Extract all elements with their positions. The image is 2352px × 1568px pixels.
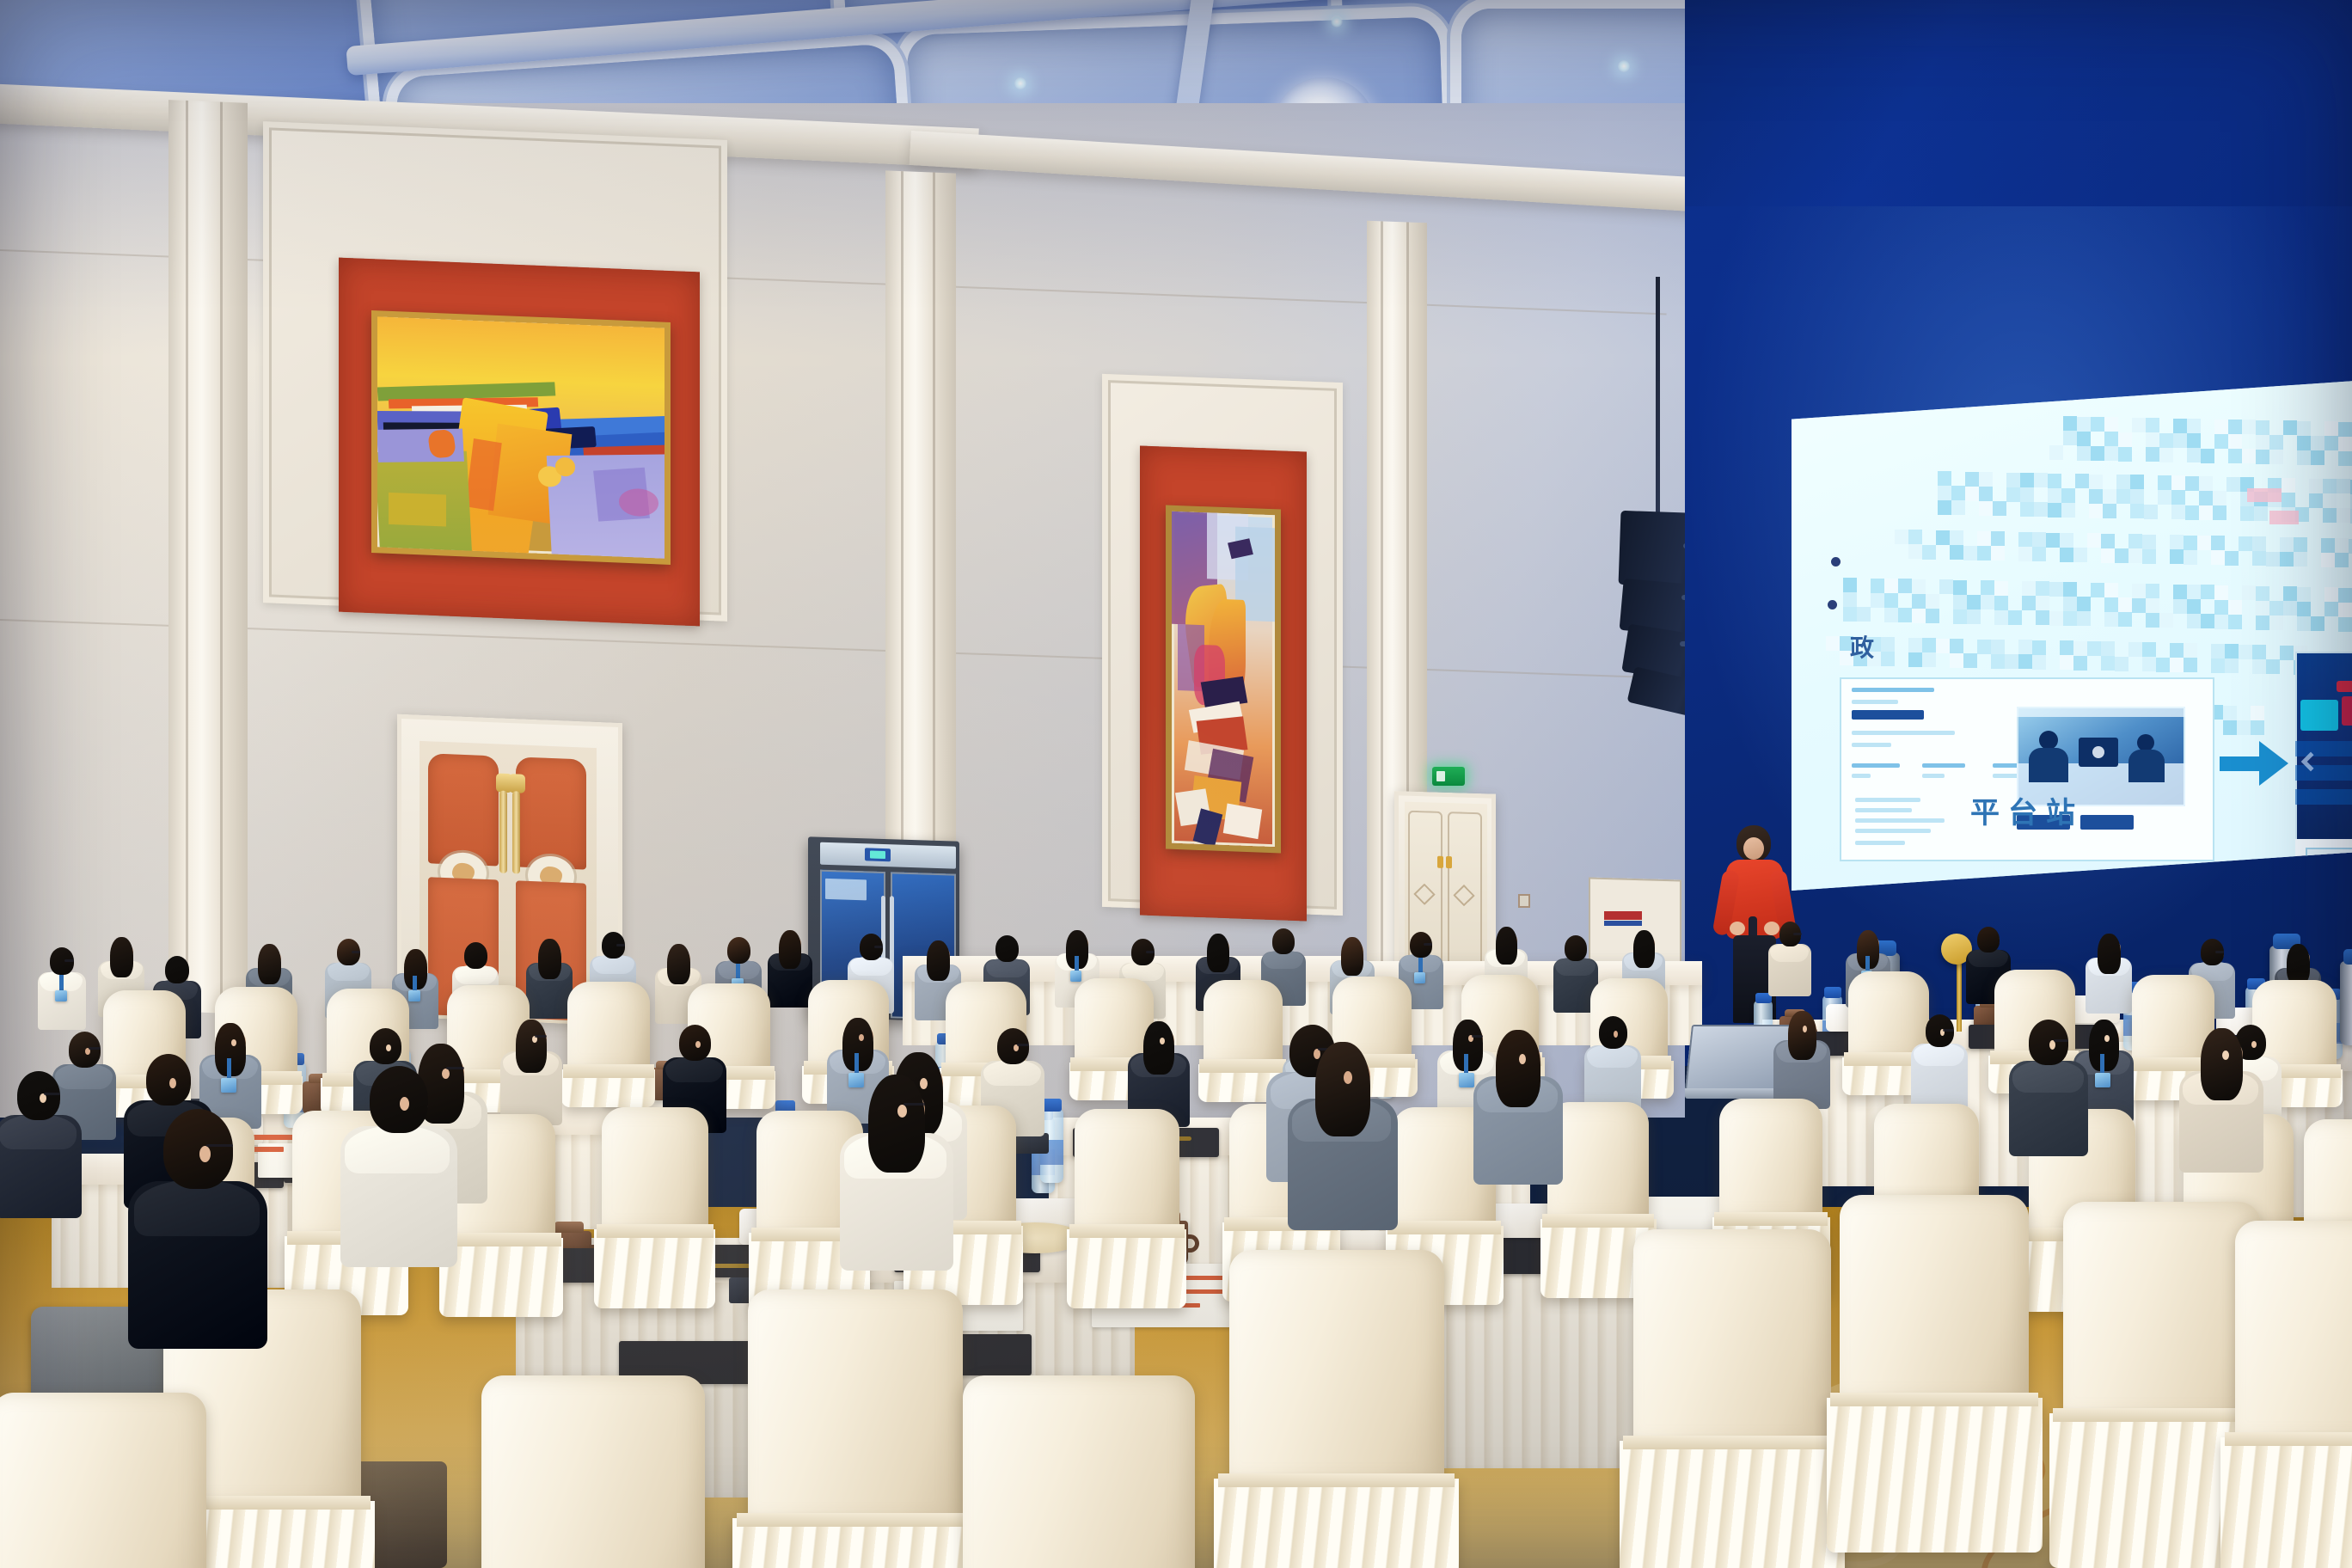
mosaic-pixel <box>2032 640 2046 655</box>
mosaic-pixel <box>2311 450 2324 465</box>
mosaic-pixel <box>2046 655 2060 670</box>
mosaic-pixel <box>2104 583 2118 597</box>
mosaic-pixel <box>2128 657 2142 671</box>
mosaic-pixel <box>2018 654 2032 669</box>
mosaic-pixel <box>2063 416 2077 431</box>
hair <box>163 1109 233 1189</box>
mosaic-pixel <box>2171 475 2185 490</box>
mosaic-pixel <box>2075 474 2089 488</box>
mosaic-pixel <box>2187 419 2201 433</box>
hair <box>370 1066 428 1133</box>
mosaic-pixel <box>2283 435 2297 450</box>
mosaic-pixel <box>2020 473 2034 487</box>
mosaic-pixel <box>1950 530 1963 545</box>
slide-caption: 平台站 <box>1970 789 2084 831</box>
mosaic-pixel <box>2214 434 2228 449</box>
mosaic-pixel <box>2311 421 2324 436</box>
panel-sign-red <box>1604 911 1642 920</box>
mosaic-pixel <box>2226 477 2240 492</box>
presenter-face <box>1743 837 1764 860</box>
mosaic-pixel <box>2022 610 2036 625</box>
hair <box>1788 1011 1816 1060</box>
mosaic-pixel <box>1936 545 1950 560</box>
mosaic-pixel <box>2005 547 2018 561</box>
mosaic-pixel <box>2338 451 2352 466</box>
mosaic-pixel <box>2184 550 2197 565</box>
ear <box>859 1034 864 1041</box>
banquet-chair[interactable] <box>1204 980 1283 1068</box>
mosaic-pixel <box>1908 652 1922 667</box>
hair <box>17 1071 60 1120</box>
mosaic-pixel <box>2077 417 2091 432</box>
mosaic-pixel <box>1950 545 1963 560</box>
mosaic-pixel <box>2063 582 2077 597</box>
mosaic-pixel <box>2171 490 2185 505</box>
shoulder <box>1770 944 1809 962</box>
mosaic-pixel <box>2338 422 2352 437</box>
mosaic-pixel <box>1951 471 1965 486</box>
mosaic-pixel <box>2159 613 2173 628</box>
mosaic-pixel <box>2309 508 2323 523</box>
panel-sign-blue <box>1604 921 1642 926</box>
mosaic-pixel <box>2223 720 2237 735</box>
mosaic-pixel <box>2242 585 2256 600</box>
mosaic-pixel <box>1991 640 2005 654</box>
mosaic-pixel <box>2240 506 2254 521</box>
mosaic-pixel <box>2269 586 2283 601</box>
hair <box>2029 1020 2068 1065</box>
chair-sash <box>1714 1212 1828 1226</box>
mosaic-pixel <box>2280 660 2294 675</box>
hair <box>2287 944 2310 984</box>
mosaic-pixel <box>2324 421 2338 436</box>
mosaic-pixel <box>2118 432 2132 447</box>
mosaic-pixel <box>2144 490 2158 505</box>
mosaic-pixel <box>2214 600 2228 615</box>
mosaic-pixel <box>1857 592 1871 607</box>
mosaic-pixel <box>2130 504 2144 518</box>
mosaic-pixel <box>1936 530 1950 545</box>
mosaic-pixel <box>2256 435 2269 450</box>
mosaic-pixel <box>2324 602 2338 616</box>
mosaic-pixel <box>1965 487 1979 501</box>
hair <box>1496 1030 1540 1107</box>
banquet-chair[interactable] <box>1229 1250 1444 1482</box>
mosaic-pixel <box>1936 653 1950 668</box>
mosaic-pixel <box>2063 611 2077 626</box>
lanyard <box>2100 1054 2104 1075</box>
mosaic-pixel <box>2307 553 2321 567</box>
chair-sash <box>442 1233 561 1246</box>
wall-pilaster <box>168 100 248 1014</box>
chair-sash <box>1199 1059 1286 1073</box>
mosaic-pixel <box>2073 656 2087 671</box>
hair <box>1315 1042 1370 1136</box>
mosaic-pixel <box>1922 638 1936 652</box>
mosaic-pixel <box>2173 433 2187 448</box>
mosaic-pixel <box>2146 613 2159 628</box>
eyeglasses <box>874 946 883 948</box>
mosaic-pixel <box>2060 548 2073 562</box>
mosaic-pixel <box>2020 487 2034 502</box>
mosaic-pixel <box>2239 551 2252 566</box>
mosaic-pixel <box>2185 476 2199 491</box>
banquet-chair[interactable] <box>1075 1109 1179 1233</box>
mosaic-pixel <box>2159 433 2173 448</box>
mosaic-pixel <box>1922 545 1936 560</box>
mosaic-pixel <box>2252 536 2266 551</box>
mosaic-pixel <box>2266 552 2280 567</box>
mosaic-pixel <box>2228 434 2242 449</box>
eyeglasses <box>1793 933 1802 935</box>
chair-sash <box>563 1064 654 1078</box>
mosaic-pixel <box>2173 419 2187 433</box>
mosaic-pixel <box>2225 551 2239 566</box>
banquet-chair[interactable] <box>602 1107 708 1233</box>
mosaic-pixel <box>2046 533 2060 548</box>
mosaic-pixel <box>2214 420 2228 434</box>
mosaic-pixel <box>2199 476 2213 491</box>
mosaic-pixel <box>2184 536 2197 550</box>
mosaic-pixel <box>2311 587 2324 602</box>
mosaic-pixel <box>2211 658 2225 673</box>
mosaic-pixel <box>2036 581 2049 596</box>
banquet-chair[interactable] <box>2235 1221 2352 1441</box>
mosaic-pixel <box>2156 643 2170 658</box>
mosaic-pixel <box>1843 607 1857 622</box>
hair <box>868 1075 925 1173</box>
mosaic-pixel <box>2242 420 2256 434</box>
mosaic-pixel <box>2309 493 2323 508</box>
mosaic-pixel <box>1965 501 1979 516</box>
mosaic-pixel <box>1938 471 1951 486</box>
banquet-chair[interactable] <box>481 1375 705 1568</box>
banquet-chair[interactable] <box>748 1289 963 1522</box>
mosaic-pixel <box>2295 478 2309 493</box>
mosaic-pixel <box>2228 585 2242 600</box>
mosaic-pixel <box>1871 608 1884 622</box>
ear <box>897 1105 907 1118</box>
mosaic-pixel <box>2034 502 2048 517</box>
mosaic-pixel <box>2170 658 2184 672</box>
banquet-chair[interactable] <box>1840 1195 2029 1401</box>
mosaic-pixel <box>2073 641 2087 656</box>
banquet-chair[interactable] <box>0 1393 206 1568</box>
mosaic-pixel <box>2324 450 2338 465</box>
teapot-lid <box>554 1222 583 1234</box>
mosaic-pixel <box>2283 616 2297 630</box>
chair-sash <box>2225 1432 2352 1446</box>
mosaic-pixel <box>1951 486 1965 500</box>
mosaic-pixel <box>1898 579 1912 593</box>
mosaic-pixel <box>2294 552 2307 567</box>
mosaic-pixel <box>1951 500 1965 515</box>
mosaic-pixel <box>2213 476 2226 491</box>
mosaic-pixel <box>2297 421 2311 436</box>
chair-skirt <box>1067 1229 1186 1308</box>
mosaic-pixel <box>1950 653 1963 668</box>
mosaic-pixel <box>2128 548 2142 563</box>
mosaic-pixel <box>2213 491 2226 505</box>
mosaic-pixel <box>2091 597 2104 612</box>
thermos-flask <box>2340 961 2352 1045</box>
chair-sash <box>1542 1214 1654 1228</box>
mosaic-pixel <box>2211 644 2225 658</box>
mosaic-pixel <box>2237 706 2251 720</box>
ear <box>199 1146 211 1162</box>
mosaic-pixel <box>2146 598 2159 613</box>
slide-subhead: 政 <box>1850 629 1877 664</box>
mosaic-pixel <box>1963 639 1977 653</box>
mosaic-pixel <box>2282 493 2295 507</box>
mosaic-pixel <box>1843 578 1857 592</box>
mosaic-pixel <box>1939 609 1953 623</box>
mosaic-pixel <box>2201 614 2214 628</box>
mosaic-pixel <box>2187 433 2201 448</box>
banquet-chair[interactable] <box>567 982 650 1073</box>
mosaic-pixel <box>1881 637 1895 652</box>
mosaic-pixel <box>2089 489 2103 504</box>
mosaic-pixel <box>2089 504 2103 518</box>
mosaic-pixel <box>2297 436 2311 450</box>
hair <box>1977 927 2000 952</box>
chair-sash <box>1830 1393 2038 1406</box>
mosaic-pixel <box>2032 532 2046 547</box>
mosaic-pixel <box>2075 503 2089 518</box>
mosaic-pixel <box>2130 475 2144 489</box>
banquet-chair[interactable] <box>1719 1099 1822 1221</box>
mosaic-pixel <box>1895 544 1908 559</box>
mosaic-pixel <box>2132 584 2146 598</box>
projection-screen: 政 <box>1792 378 2352 891</box>
mosaic-pixel <box>2146 447 2159 462</box>
mosaic-pixel <box>2239 645 2252 659</box>
mosaic-pixel <box>2226 492 2240 506</box>
mosaic-pixel <box>2005 532 2018 547</box>
mosaic-pixel <box>2256 586 2269 601</box>
mosaic-pixel <box>2280 537 2294 552</box>
mosaic-pixel <box>2115 548 2128 563</box>
mosaic-pixel <box>2034 473 2048 487</box>
mosaic-pixel <box>1912 609 1926 623</box>
mosaic-pixel <box>2256 450 2269 464</box>
chair-skirt <box>1620 1441 1845 1568</box>
mosaic-pixel <box>1979 487 1993 501</box>
mosaic-pixel <box>2118 597 2132 612</box>
mosaic-pixel <box>2297 587 2311 602</box>
chair-sash <box>597 1224 714 1238</box>
mosaic-pixel <box>2280 646 2294 660</box>
mosaic-pixel <box>2338 603 2352 617</box>
banquet-chair[interactable] <box>1633 1229 1831 1444</box>
mosaic-pixel <box>1977 531 1991 546</box>
mosaic-pixel <box>2116 489 2130 504</box>
hair <box>995 935 1019 962</box>
mosaic-pixel <box>1939 579 1953 594</box>
mosaic-pixel <box>2060 640 2073 655</box>
mosaic-pixel <box>2018 640 2032 654</box>
name-badge <box>221 1078 236 1093</box>
ear <box>169 1078 176 1088</box>
mosaic-pixel <box>1908 544 1922 559</box>
mosaic-pixel <box>2146 584 2159 598</box>
slide-bullet <box>1828 600 1837 609</box>
mosaic-pixel <box>2242 615 2256 629</box>
mosaic-pixel <box>2132 418 2146 432</box>
mosaic-pixel <box>2173 448 2187 462</box>
hair <box>1565 935 1587 961</box>
mosaic-pixel <box>2159 598 2173 613</box>
mosaic-pixel <box>2146 418 2159 432</box>
mosaic-pixel <box>2159 419 2173 433</box>
transition-arrow <box>2220 741 2288 786</box>
mosaic-pixel <box>2187 585 2201 599</box>
mosaic-pixel <box>2254 506 2268 521</box>
mosaic-pixel <box>1936 639 1950 653</box>
mosaic-pixel <box>2061 488 2075 503</box>
hair <box>258 944 281 984</box>
eyeglasses <box>1146 951 1155 953</box>
mosaic-pixel <box>2252 551 2266 566</box>
mosaic-pixel <box>2338 617 2352 632</box>
chair-sash <box>1387 1221 1501 1234</box>
mosaic-pixel <box>1871 593 1884 608</box>
mosaic-pixel <box>1826 636 1840 651</box>
eyeglasses <box>89 1047 101 1050</box>
mosaic-pixel <box>2197 536 2211 550</box>
mosaic-pixel <box>2185 491 2199 505</box>
mosaic-pixel <box>1993 487 2006 501</box>
mosaic-pixel <box>2269 601 2283 616</box>
mosaic-pixel <box>2226 506 2240 521</box>
presenter-hand <box>1764 922 1779 935</box>
name-badge <box>1070 971 1081 982</box>
mosaic-pixel <box>2324 616 2338 631</box>
mosaic-pixel <box>1898 593 1912 608</box>
ear <box>1160 1038 1165 1044</box>
mosaic-pixel <box>1881 652 1895 666</box>
mosaic-pixel <box>2103 504 2116 518</box>
mosaic-pixel <box>2201 449 2214 463</box>
mosaic-pixel <box>2115 534 2128 548</box>
hair <box>464 942 487 969</box>
mosaic-pixel <box>2049 445 2063 460</box>
mosaic-pixel <box>1871 579 1884 593</box>
mosaic-pixel <box>1953 595 1967 609</box>
mosaic-pixel <box>1922 652 1936 667</box>
mosaic-pixel <box>1939 594 1953 609</box>
mosaic-pixel <box>2118 612 2132 627</box>
bottle-cap <box>1824 987 1841 998</box>
mosaic-pixel <box>2266 537 2280 552</box>
mosaic-pixel <box>2008 610 2022 625</box>
mosaic-pixel <box>2142 535 2156 549</box>
lanyard <box>1464 1054 1468 1075</box>
mosaic-pixel <box>2283 586 2297 601</box>
mosaic-pixel <box>1979 501 1993 516</box>
mosaic-pixel <box>2309 479 2323 493</box>
mosaic-pixel <box>2049 597 2063 611</box>
door-handle[interactable] <box>509 774 525 793</box>
mosaic-pixel <box>2061 503 2075 518</box>
mosaic-pixel <box>2034 487 2048 502</box>
lanyard <box>1865 956 1870 971</box>
mosaic-pixel <box>2251 720 2264 735</box>
speaker-suspension-cable <box>1656 277 1660 518</box>
mosaic-pixel <box>1981 595 1994 609</box>
hair <box>538 939 561 979</box>
banquet-chair[interactable] <box>963 1375 1195 1568</box>
chair-sash <box>1069 1224 1185 1238</box>
ear <box>920 1078 928 1089</box>
banquet-chair[interactable] <box>2063 1202 2261 1417</box>
mosaic-pixel <box>2142 549 2156 564</box>
mosaic-pixel <box>2323 493 2337 508</box>
mosaic-pixel <box>1908 638 1922 652</box>
mosaic-pixel <box>2103 475 2116 489</box>
mosaic-pixel <box>2104 612 2118 627</box>
eyeglasses <box>1472 1035 1483 1038</box>
mosaic-pixel <box>2118 418 2132 432</box>
mosaic-pixel <box>1926 609 1939 623</box>
mosaic-pixel <box>2269 616 2283 630</box>
mosaic-pixel <box>2242 434 2256 449</box>
mosaic-pixel <box>2087 533 2101 548</box>
mosaic-pixel <box>2184 643 2197 658</box>
mosaic-pixel <box>1981 580 1994 595</box>
mosaic-pixel <box>2187 448 2201 462</box>
mosaic-pixel <box>2335 553 2349 567</box>
thermos-cap <box>2343 949 2352 965</box>
mosaic-pixel <box>2225 536 2239 551</box>
eyeglasses <box>446 1067 464 1069</box>
exit-sign <box>1432 767 1465 786</box>
mosaic-pixel <box>2118 447 2132 462</box>
mosaic-pixel <box>2252 645 2266 659</box>
mosaic-pixel <box>2158 505 2171 519</box>
mosaic-pixel <box>2199 491 2213 505</box>
mosaic-pixel <box>2297 616 2311 631</box>
hair <box>1496 927 1517 965</box>
mosaic-pixel <box>2197 658 2211 673</box>
eyeglasses <box>2054 1039 2068 1042</box>
mosaic-pixel <box>2225 658 2239 673</box>
mosaic-pixel <box>2228 615 2242 629</box>
ear <box>386 1044 391 1051</box>
mosaic-pixel <box>2171 505 2185 519</box>
mosaic-pixel <box>2201 434 2214 449</box>
mosaic-pixel <box>2201 599 2214 614</box>
mosaic-pixel <box>2158 475 2171 490</box>
name-badge <box>1459 1073 1474 1087</box>
mosaic-pixel <box>2185 505 2199 520</box>
mosaic-pixel <box>2061 474 2075 488</box>
mosaic-pixel <box>1938 486 1951 500</box>
slide-bullet <box>1831 557 1841 567</box>
mosaic-pixel <box>2294 537 2307 552</box>
mosaic-pixel <box>2159 584 2173 598</box>
mosaic-pixel <box>2297 602 2311 616</box>
ear <box>1614 1031 1618 1038</box>
chair-sash <box>737 1513 973 1527</box>
lanyard <box>854 1053 859 1075</box>
mosaic-pixel <box>2046 548 2060 562</box>
wall-socket <box>1518 894 1530 908</box>
mosaic-pixel <box>1967 595 1981 609</box>
mosaic-pixel <box>2142 657 2156 671</box>
hair <box>727 937 750 964</box>
mosaic-pixel <box>2297 450 2311 465</box>
